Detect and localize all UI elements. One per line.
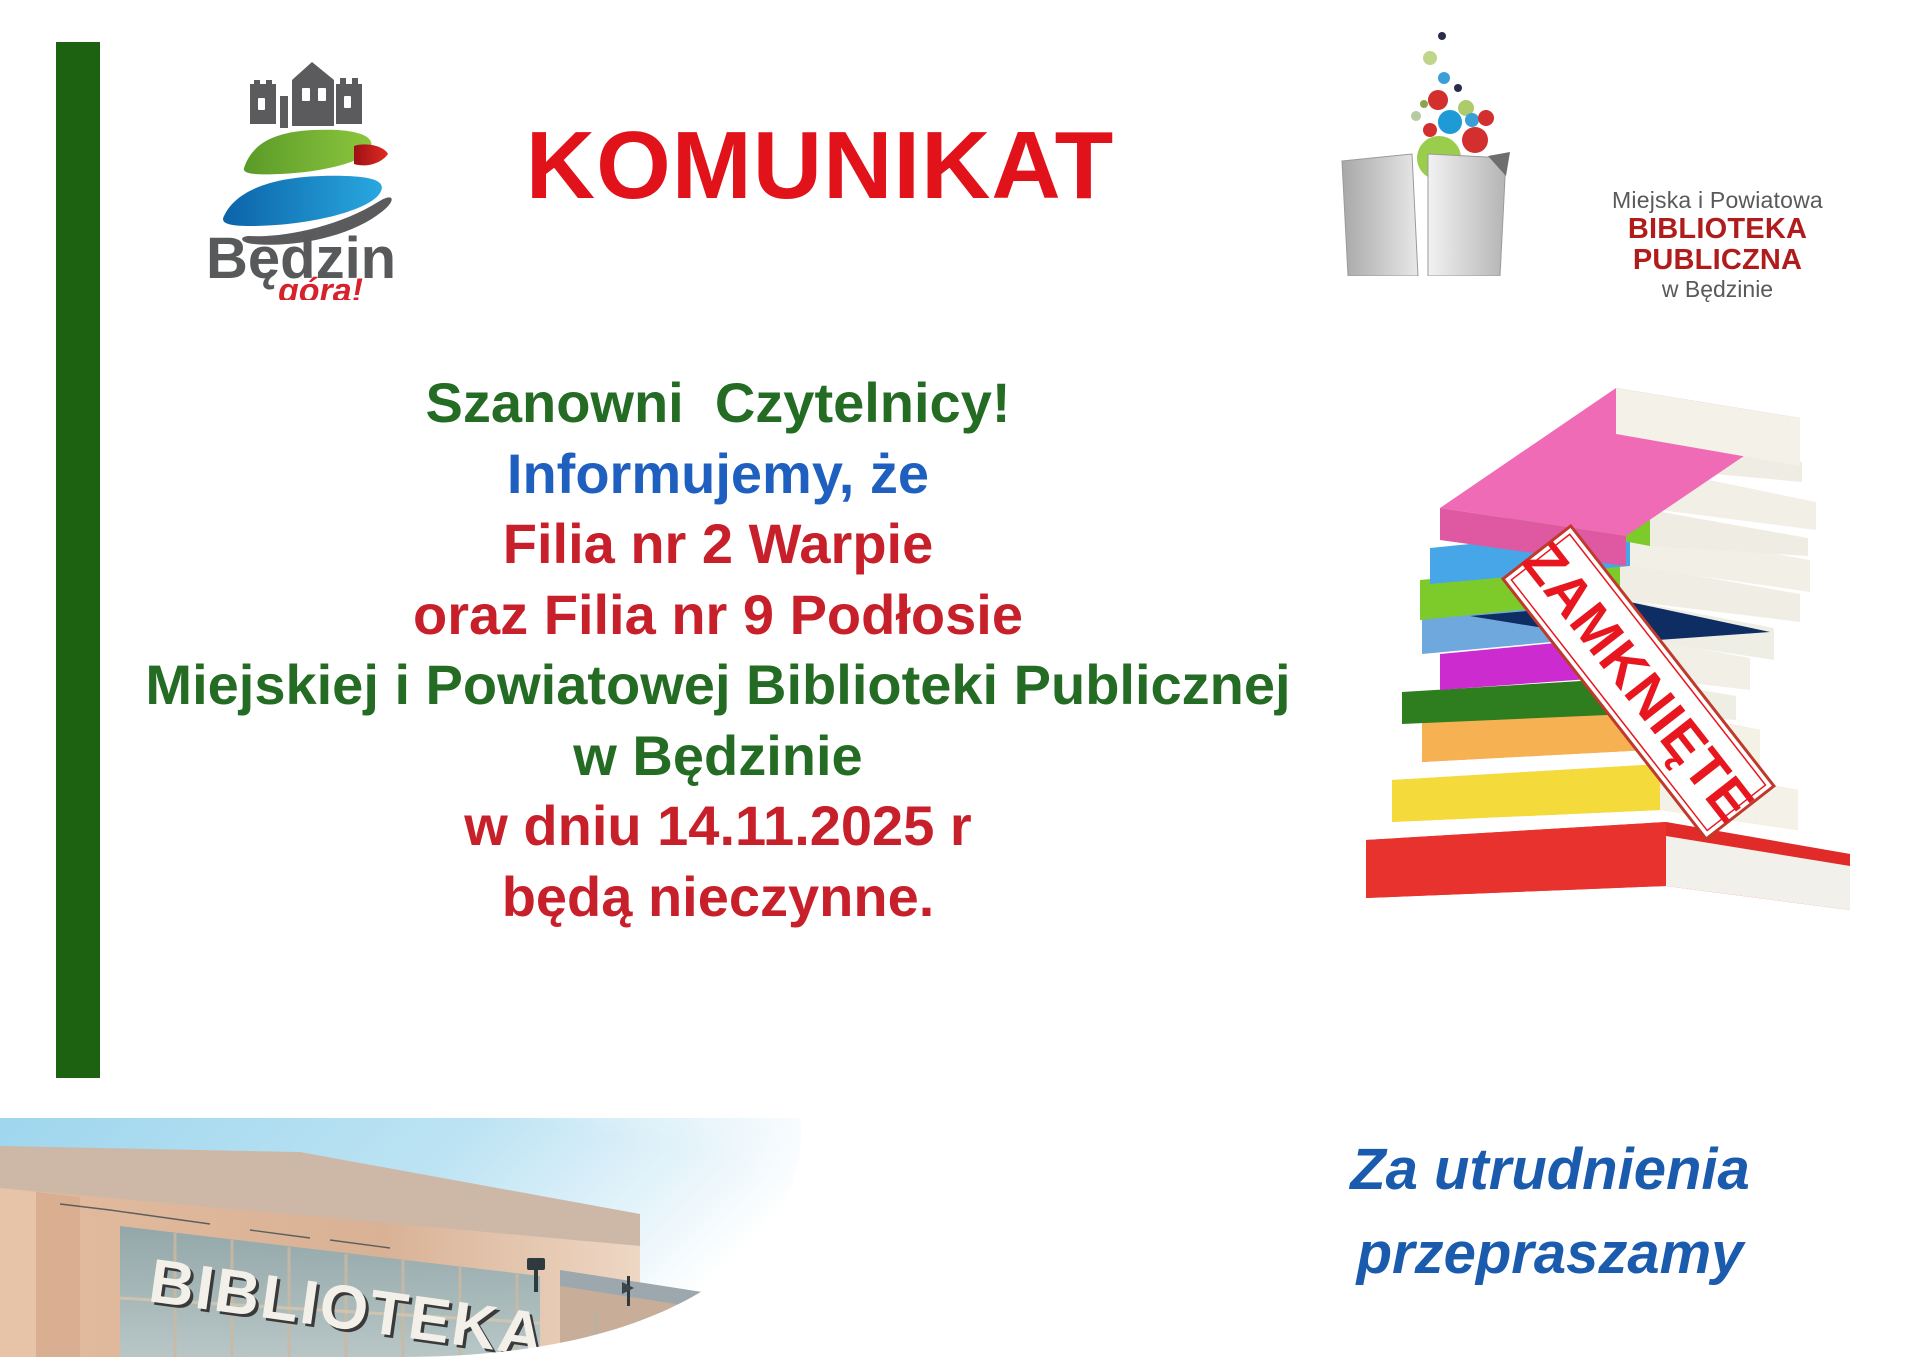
stack-of-books-with-closed-sign: ZAMKNIĘTE <box>1330 370 1900 960</box>
library-logo-line2: BIBLIOTEKA PUBLICZNA <box>1545 214 1890 277</box>
announcement-body: Szanowni Czytelnicy! Informujemy, że Fil… <box>118 368 1318 932</box>
message-line-2: Informujemy, że <box>118 439 1318 510</box>
book-red <box>1366 822 1850 910</box>
message-line-5: Miejskiej i Powiatowej Biblioteki Public… <box>118 650 1318 721</box>
bedzin-city-logo: Będzin góra! <box>188 50 398 300</box>
page-title: KOMUNIKAT <box>420 118 1220 214</box>
library-logo: Miejska i Powiatowa BIBLIOTEKA PUBLICZNA… <box>1300 20 1920 280</box>
library-logo-text: Miejska i Powiatowa BIBLIOTEKA PUBLICZNA… <box>1545 188 1890 302</box>
left-accent-bar <box>56 42 100 1078</box>
bedzin-tagline: góra! <box>277 272 363 300</box>
library-logo-line1: Miejska i Powiatowa <box>1545 188 1890 213</box>
message-line-1: Szanowni Czytelnicy! <box>118 368 1318 439</box>
apology-line-1: Za utrudnienia <box>1190 1128 1910 1212</box>
apology-line-2: przepraszamy <box>1190 1212 1910 1296</box>
library-building-photo: BIBLIOTEKA BIBLIOTEKA <box>0 1118 1160 1357</box>
open-book-icon <box>1320 26 1540 276</box>
bedzin-logo-graphic: Będzin góra! <box>188 50 398 300</box>
page-title-wrapper: KOMUNIKAT <box>420 118 1220 214</box>
apology-text: Za utrudnienia przepraszamy <box>1190 1128 1910 1296</box>
message-line-4: oraz Filia nr 9 Podłosie <box>118 580 1318 651</box>
message-line-7: w dniu 14.11.2025 r <box>118 791 1318 862</box>
library-logo-line3: w Będzinie <box>1545 277 1890 302</box>
message-line-6: w Będzinie <box>118 721 1318 792</box>
message-line-8: będą nieczynne. <box>118 862 1318 933</box>
message-line-3: Filia nr 2 Warpie <box>118 509 1318 580</box>
